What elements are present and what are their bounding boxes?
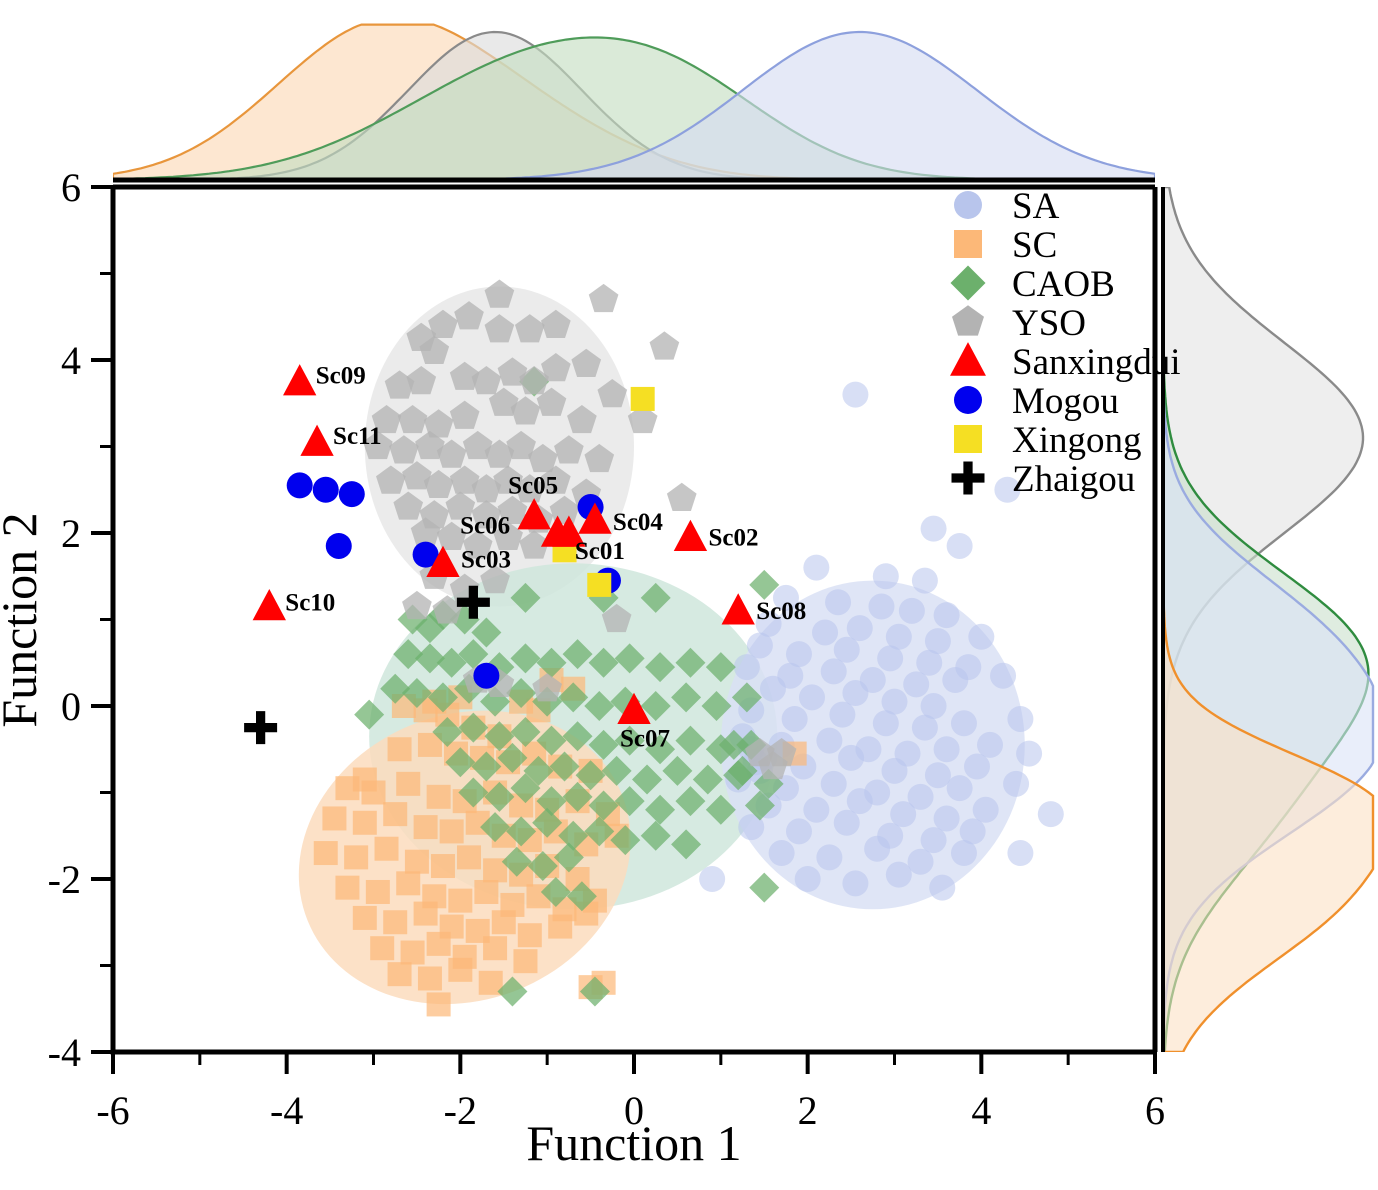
point-sa-5 [873,563,899,589]
point-sa-65 [803,797,829,823]
point-mogou-3 [326,533,352,559]
point-sa-56 [964,754,990,780]
point-sc-74 [427,992,451,1016]
point-sc-62 [548,915,572,939]
point-label-sc10: Sc10 [285,590,335,617]
legend-label-caob: CAOB [1012,264,1115,305]
point-label-sc08: Sc08 [756,598,806,625]
point-sa-29 [942,667,968,693]
discriminant-function-scatter-plot: Sc01Sc02Sc03Sc04Sc05Sc06Sc07Sc08Sc09Sc10… [0,0,1378,1190]
x-tick-label-2: -2 [444,1088,477,1133]
point-sa-9 [868,594,894,620]
point-sc-47 [396,871,420,895]
point-sa-49 [977,732,1003,758]
point-mogou-1 [313,477,339,503]
point-sc-66 [427,932,451,956]
point-sa-50 [1016,741,1042,767]
legend-label-sa: SA [1012,186,1060,227]
y-tick-label-3: 2 [61,511,81,556]
point-sc-17 [427,785,451,809]
point-sa-53 [838,745,864,771]
legend-label-yso: YSO [1012,303,1086,344]
point-sa-22 [916,650,942,676]
point-sa-31 [760,676,786,702]
x-tick-label-0: -6 [96,1088,129,1133]
point-sc-15 [362,781,386,805]
point-sc-65 [401,941,425,965]
point-xingong-0 [631,387,655,411]
point-sa-30 [990,663,1016,689]
point-sa-84 [842,870,868,896]
point-sa-39 [873,710,899,736]
point-sc-36 [344,845,368,869]
point-mogou-5 [473,663,499,689]
point-sc-72 [448,958,472,982]
point-sa-18 [747,632,773,658]
point-sc-68 [483,936,507,960]
point-sa-4 [803,555,829,581]
point-sc-14 [335,776,359,800]
legend-label-sanxingdui: Sanxingdui [1012,342,1181,383]
point-sa-67 [890,801,916,827]
point-sa-10 [899,598,925,624]
point-sc-61 [518,923,542,947]
point-sa-77 [769,840,795,866]
point-sa-0 [842,382,868,408]
point-sa-17 [968,624,994,650]
x-tick-label-4: 2 [798,1088,818,1133]
point-sc-64 [370,936,394,960]
y-tick-label-4: 4 [61,338,81,383]
point-sc-40 [457,845,481,869]
point-label-sc05: Sc05 [508,473,558,500]
point-sa-40 [912,715,938,741]
point-sa-33 [842,680,868,706]
point-sa-69 [973,797,999,823]
point-sa-8 [825,589,851,615]
point-sc-35 [314,841,338,865]
point-sc-37 [375,837,399,861]
point-sa-2 [921,516,947,542]
point-sa-26 [821,658,847,684]
point-sc-6 [388,737,412,761]
point-sa-54 [882,758,908,784]
point-sa-28 [903,671,929,697]
point-sc-16 [396,772,420,796]
point-sa-63 [1003,771,1029,797]
point-sa-62 [947,775,973,801]
point-sc-50 [474,880,498,904]
point-sa-79 [864,836,890,862]
y-tick-label-0: -4 [48,1030,81,1075]
point-sc-46 [366,880,390,904]
point-sa-13 [812,619,838,645]
point-sa-83 [795,866,821,892]
point-label-sc01: Sc01 [575,538,625,565]
point-sc-38 [405,850,429,874]
point-sa-42 [1007,706,1033,732]
point-sa-38 [829,702,855,728]
x-tick-label-5: 4 [971,1088,991,1133]
legend-label-mogou: Mogou [1012,381,1119,422]
point-sc-25 [353,811,377,835]
point-label-sc11: Sc11 [333,423,382,450]
point-sa-24 [734,654,760,680]
y-tick-label-2: 0 [61,684,81,729]
point-sa-86 [929,875,955,901]
point-sc-39 [431,854,455,878]
point-sc-57 [414,902,438,926]
point-sa-41 [951,710,977,736]
point-sa-48 [934,736,960,762]
point-label-sc04: Sc04 [613,509,664,536]
point-sc-28 [440,819,464,843]
point-sc-71 [418,966,442,990]
point-sa-59 [821,771,847,797]
point-sa-32 [799,684,825,710]
point-sc-56 [383,910,407,934]
point-sc-55 [353,906,377,930]
point-sa-11 [934,602,960,628]
point-sc-49 [448,889,472,913]
point-sc-26 [383,802,407,826]
point-mogou-0 [287,472,313,498]
point-sc-27 [414,815,438,839]
legend-label-xingong: Xingong [1012,420,1142,461]
legend-marker-sc [954,230,982,258]
point-sa-85 [886,862,912,888]
point-sa-80 [908,849,934,875]
point-mogou-2 [339,481,365,507]
legend-label-zhaigou: Zhaigou [1012,459,1135,500]
y-axis-title: Function 2 [0,512,47,727]
point-sc-24 [322,806,346,830]
point-sa-20 [834,637,860,663]
x-axis-title: Function 1 [526,1115,741,1171]
y-tick-label-1: -2 [48,857,81,902]
point-sa-45 [816,728,842,754]
point-label-sc09: Sc09 [316,363,366,390]
legend-marker-mogou [954,386,982,414]
point-sa-37 [782,706,808,732]
point-label-sc02: Sc02 [708,524,758,551]
point-label-sc07: Sc07 [620,725,670,752]
point-sa-3 [947,533,973,559]
point-sa-81 [951,840,977,866]
y-tick-label-5: 6 [61,165,81,210]
point-label-sc06: Sc06 [460,513,510,540]
point-sa-82 [1007,840,1033,866]
point-sc-45 [335,876,359,900]
point-label-sc03: Sc03 [461,546,511,573]
point-sa-21 [877,645,903,671]
point-xingong-2 [587,573,611,597]
point-sa-14 [847,615,873,641]
point-sa-70 [1038,801,1064,827]
chart-root: Sc01Sc02Sc03Sc04Sc05Sc06Sc07Sc08Sc09Sc10… [0,0,1378,1190]
point-sa-68 [934,805,960,831]
legend-marker-xingong [954,425,982,453]
point-sa-87 [699,866,725,892]
point-sa-72 [786,818,812,844]
legend-marker-sa [954,191,982,219]
point-sa-75 [921,827,947,853]
x-tick-label-1: -4 [270,1088,303,1133]
point-sa-55 [925,762,951,788]
point-sc-69 [513,949,537,973]
point-sa-78 [816,844,842,870]
legend-label-sc: SC [1012,225,1057,266]
x-tick-label-6: 6 [1145,1088,1165,1133]
point-sc-70 [388,962,412,986]
point-sa-73 [834,810,860,836]
point-sa-66 [847,788,873,814]
point-sa-6 [912,568,938,594]
point-sc-60 [492,910,516,934]
